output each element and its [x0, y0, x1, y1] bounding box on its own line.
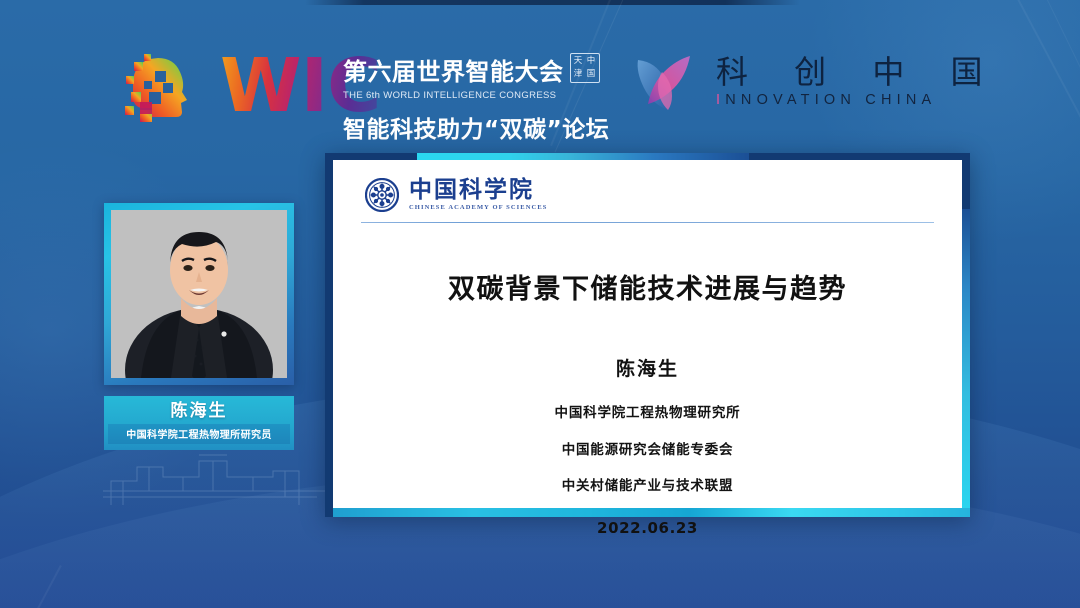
- speaker-panel: 陈海生 中国科学院工程热物理所研究员: [104, 203, 294, 450]
- badge-char-3: 国: [585, 68, 598, 81]
- speaker-nameplate: 陈海生 中国科学院工程热物理所研究员: [104, 396, 294, 450]
- innovation-china-logo: 科 创 中 国 INNOVATION CHINA: [632, 50, 1001, 114]
- presentation-slide[interactable]: 中国科学院 CHINESE ACADEMY OF SCIENCES 双碳背景下储…: [325, 153, 970, 517]
- forum-name-cn: 智能科技助力“双碳”论坛: [343, 110, 588, 144]
- cas-seal-icon: [365, 178, 399, 212]
- slide-author: 陈海生: [359, 354, 936, 381]
- broadcast-background: WIC 第六届世界智能大会 THE 6th WORLD INTELLIGENCE…: [0, 0, 1080, 608]
- pixel-head-icon: [118, 40, 210, 132]
- skyline-line-art: [103, 447, 333, 509]
- slide-affiliation: 中国能源研究会储能专委会: [359, 444, 936, 458]
- congress-name-cn: 第六届世界智能大会: [343, 52, 564, 87]
- innovation-china-name-en: INNOVATION CHINA: [716, 92, 1001, 108]
- slide-edge-top-accent: [417, 153, 749, 160]
- speaker-title: 中国科学院工程热物理所研究员: [108, 424, 290, 444]
- congress-name-en: THE 6th WORLD INTELLIGENCE CONGRESS: [343, 90, 564, 101]
- slide-page: 中国科学院 CHINESE ACADEMY OF SCIENCES 双碳背景下储…: [333, 160, 962, 508]
- speaker-name: 陈海生: [108, 401, 290, 422]
- innovation-china-name-cn: 科 创 中 国: [716, 56, 1001, 90]
- event-header: WIC 第六届世界智能大会 THE 6th WORLD INTELLIGENCE…: [0, 22, 1080, 140]
- slide-edge-right-accent: [962, 209, 970, 508]
- slide-affiliation: 中关村储能产业与技术联盟: [359, 480, 936, 494]
- speaker-video-frame[interactable]: [104, 203, 294, 385]
- badge-char-1: 中: [585, 55, 598, 68]
- slide-edge-bottom-accent: [333, 508, 970, 517]
- slide-title: 双碳背景下储能技术进展与趋势: [359, 267, 936, 306]
- top-dark-bar: [305, 0, 800, 5]
- innovation-china-en-initial: I: [716, 92, 725, 108]
- slide-org-name-en: CHINESE ACADEMY OF SCIENCES: [409, 204, 547, 211]
- butterfly-mark-icon: [632, 50, 698, 114]
- wic-title-block: 第六届世界智能大会 THE 6th WORLD INTELLIGENCE CON…: [343, 52, 588, 144]
- slide-org-header: 中国科学院 CHINESE ACADEMY OF SCIENCES: [359, 178, 936, 212]
- tianjin-china-badge: 天 中 津 国: [570, 53, 600, 83]
- slide-org-name-cn: 中国科学院: [409, 178, 547, 201]
- slide-divider: [361, 222, 934, 223]
- innovation-china-en-rest: NNOVATION CHINA: [725, 92, 936, 108]
- slide-date: 2022.06.23: [359, 519, 936, 537]
- slide-affiliation: 中国科学院工程热物理研究所: [359, 407, 936, 421]
- badge-char-0: 天: [572, 55, 585, 68]
- speaker-video-feed[interactable]: [111, 210, 287, 378]
- badge-char-2: 津: [572, 68, 585, 81]
